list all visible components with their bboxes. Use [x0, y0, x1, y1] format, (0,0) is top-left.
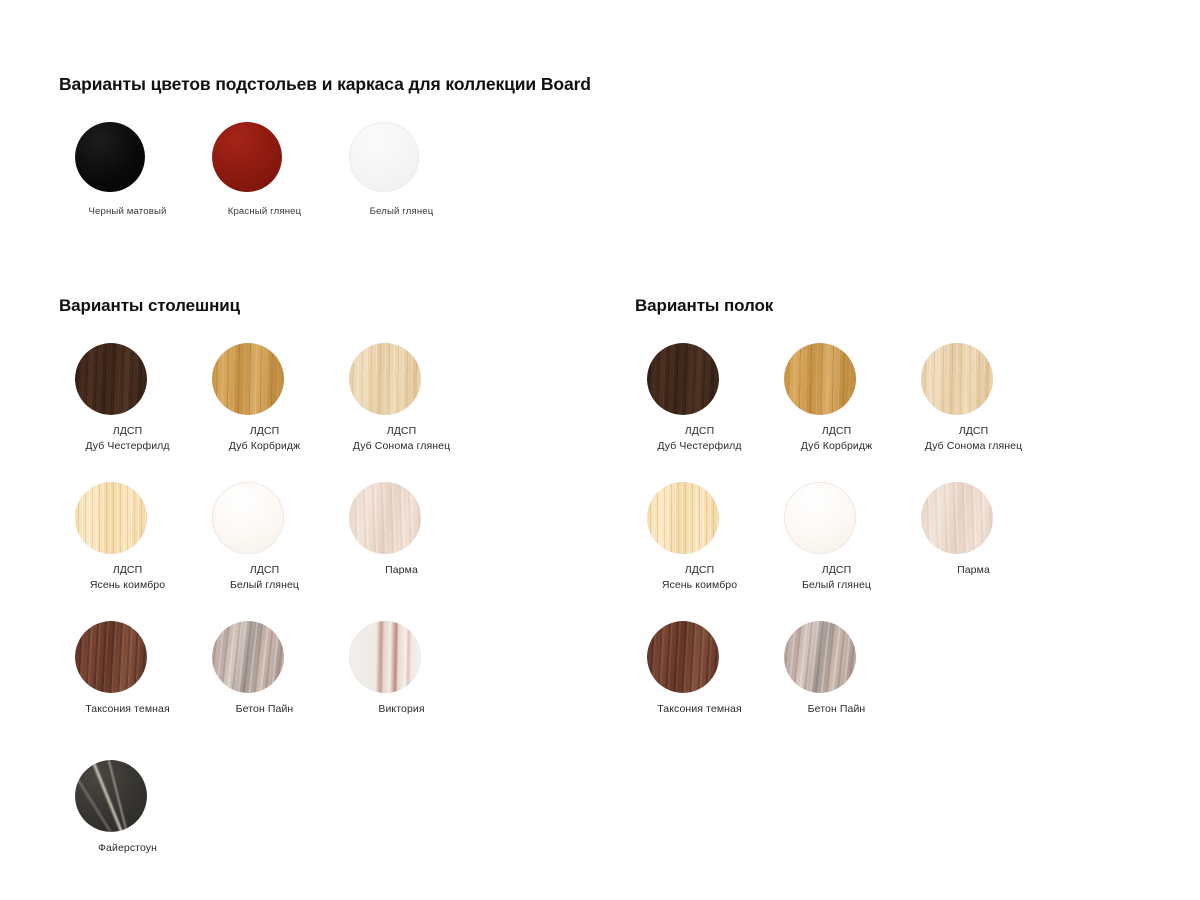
- color-swatch-option[interactable]: ЛДСПЯсень коимбро: [59, 482, 196, 621]
- swatch-label: ЛДСПБелый глянец: [196, 563, 333, 593]
- swatch-label: ЛДСПДуб Корбридж: [196, 424, 333, 454]
- swatch-label-line-1: ЛДСП: [333, 424, 470, 439]
- swatch-texture: [212, 122, 282, 192]
- tabletops-section-title: Варианты столешниц: [59, 296, 240, 316]
- swatch-thumbnail[interactable]: [631, 343, 768, 415]
- swatch-circle[interactable]: [349, 122, 419, 192]
- swatch-label-line-1: ЛДСП: [59, 563, 196, 578]
- swatch-label-line-1: Парма: [905, 563, 1042, 578]
- color-swatch-option[interactable]: Таксония темная: [59, 621, 196, 760]
- color-swatch-option[interactable]: Красный глянец: [196, 122, 333, 226]
- swatch-label: ЛДСПДуб Сонома глянец: [333, 424, 470, 454]
- swatch-texture: [349, 343, 421, 415]
- swatch-thumbnail[interactable]: [905, 343, 1042, 415]
- swatch-thumbnail[interactable]: [196, 343, 333, 415]
- color-swatch-option[interactable]: ЛДСПДуб Корбридж: [196, 343, 333, 482]
- swatch-texture: [784, 482, 856, 554]
- swatch-texture: [921, 343, 993, 415]
- swatch-circle[interactable]: [75, 760, 147, 832]
- swatch-circle[interactable]: [212, 343, 284, 415]
- swatch-circle[interactable]: [75, 482, 147, 554]
- swatch-label: Парма: [333, 563, 470, 578]
- color-swatch-option[interactable]: Виктория: [333, 621, 470, 760]
- swatch-circle[interactable]: [921, 482, 993, 554]
- tabletop-color-grid: ЛДСПДуб ЧестерфилдЛДСПДуб КорбриджЛДСПДу…: [59, 343, 470, 899]
- swatch-circle[interactable]: [647, 343, 719, 415]
- swatch-label: ЛДСПЯсень коимбро: [59, 563, 196, 593]
- swatch-texture: [75, 760, 147, 832]
- swatch-label: Бетон Пайн: [196, 702, 333, 717]
- shelves-section-title: Варианты полок: [635, 296, 773, 316]
- swatch-thumbnail[interactable]: [631, 482, 768, 554]
- swatch-label-line-2: Дуб Честерфилд: [631, 439, 768, 454]
- swatch-label-line-1: ЛДСП: [631, 563, 768, 578]
- swatch-thumbnail[interactable]: [333, 343, 470, 415]
- swatch-circle[interactable]: [212, 621, 284, 693]
- swatch-texture: [784, 621, 856, 693]
- swatch-label: Таксония темная: [59, 702, 196, 717]
- swatch-circle[interactable]: [784, 343, 856, 415]
- color-swatch-option[interactable]: Бетон Пайн: [768, 621, 905, 760]
- swatch-label-line-1: Бетон Пайн: [196, 702, 333, 717]
- swatch-label: ЛДСПДуб Честерфилд: [631, 424, 768, 454]
- color-swatch-option[interactable]: ЛДСПДуб Сонома глянец: [333, 343, 470, 482]
- color-swatch-option[interactable]: Парма: [905, 482, 1042, 621]
- swatch-label: Красный глянец: [196, 205, 333, 219]
- swatch-thumbnail[interactable]: [59, 760, 196, 832]
- color-swatch-option[interactable]: ЛДСПЯсень коимбро: [631, 482, 768, 621]
- swatch-circle[interactable]: [349, 343, 421, 415]
- color-swatch-option[interactable]: ЛДСПБелый глянец: [768, 482, 905, 621]
- swatch-thumbnail[interactable]: [768, 621, 905, 693]
- color-swatch-option[interactable]: ЛДСПБелый глянец: [196, 482, 333, 621]
- swatch-thumbnail[interactable]: [333, 482, 470, 554]
- swatch-circle[interactable]: [75, 343, 147, 415]
- color-swatch-option[interactable]: Парма: [333, 482, 470, 621]
- swatch-texture: [647, 621, 719, 693]
- swatch-thumbnail[interactable]: [768, 343, 905, 415]
- swatch-texture: [212, 343, 284, 415]
- swatch-label-line-1: Виктория: [333, 702, 470, 717]
- color-swatch-option[interactable]: ЛДСПДуб Сонома глянец: [905, 343, 1042, 482]
- swatch-label: Виктория: [333, 702, 470, 717]
- swatch-circle[interactable]: [784, 482, 856, 554]
- swatch-label-line-1: ЛДСП: [59, 424, 196, 439]
- color-swatch-option[interactable]: Бетон Пайн: [196, 621, 333, 760]
- swatch-circle[interactable]: [647, 621, 719, 693]
- swatch-label-line-1: ЛДСП: [768, 424, 905, 439]
- swatch-thumbnail[interactable]: [59, 122, 196, 194]
- swatch-thumbnail[interactable]: [333, 621, 470, 693]
- color-swatch-option[interactable]: ЛДСПДуб Честерфилд: [631, 343, 768, 482]
- swatch-label-line-2: Белый глянец: [196, 578, 333, 593]
- swatch-label-line-2: Дуб Сонома глянец: [905, 439, 1042, 454]
- swatch-thumbnail[interactable]: [196, 482, 333, 554]
- swatch-thumbnail[interactable]: [59, 621, 196, 693]
- color-swatch-option[interactable]: Черный матовый: [59, 122, 196, 226]
- swatch-label: Таксония темная: [631, 702, 768, 717]
- swatch-thumbnail[interactable]: [333, 122, 470, 194]
- swatch-label-line-2: Дуб Честерфилд: [59, 439, 196, 454]
- swatch-thumbnail[interactable]: [768, 482, 905, 554]
- swatch-thumbnail[interactable]: [59, 482, 196, 554]
- swatch-circle[interactable]: [349, 621, 421, 693]
- swatch-label-line-2: Ясень коимбро: [631, 578, 768, 593]
- swatch-label: ЛДСПДуб Честерфилд: [59, 424, 196, 454]
- swatch-texture: [212, 621, 284, 693]
- swatch-label-line-1: ЛДСП: [196, 424, 333, 439]
- swatch-label: Файерстоун: [59, 841, 196, 856]
- color-swatch-option[interactable]: Таксония темная: [631, 621, 768, 760]
- swatch-circle[interactable]: [75, 621, 147, 693]
- swatch-circle[interactable]: [212, 482, 284, 554]
- color-swatch-option[interactable]: Белый глянец: [333, 122, 470, 226]
- swatch-circle[interactable]: [212, 122, 282, 192]
- swatch-texture: [212, 482, 284, 554]
- swatch-label-line-1: Парма: [333, 563, 470, 578]
- swatch-label: ЛДСПДуб Корбридж: [768, 424, 905, 454]
- swatch-label-line-1: ЛДСП: [196, 563, 333, 578]
- swatch-label: ЛДСПЯсень коимбро: [631, 563, 768, 593]
- color-swatch-option[interactable]: ЛДСПДуб Корбридж: [768, 343, 905, 482]
- swatch-texture: [921, 482, 993, 554]
- swatch-label-line-2: Дуб Сонома глянец: [333, 439, 470, 454]
- swatch-texture: [349, 482, 421, 554]
- swatch-label: Парма: [905, 563, 1042, 578]
- swatch-label: ЛДСПДуб Сонома глянец: [905, 424, 1042, 454]
- swatch-label-line-1: Бетон Пайн: [768, 702, 905, 717]
- shelf-color-grid: ЛДСПДуб ЧестерфилдЛДСПДуб КорбриджЛДСПДу…: [631, 343, 1042, 760]
- swatch-texture: [349, 621, 421, 693]
- swatch-label: Белый глянец: [333, 205, 470, 219]
- swatch-circle[interactable]: [921, 343, 993, 415]
- swatch-label: Бетон Пайн: [768, 702, 905, 717]
- swatch-thumbnail[interactable]: [59, 343, 196, 415]
- swatch-label-line-1: Таксония темная: [631, 702, 768, 717]
- swatch-texture: [75, 482, 147, 554]
- swatch-label-line-1: ЛДСП: [768, 563, 905, 578]
- swatch-label-line-2: Дуб Корбридж: [768, 439, 905, 454]
- swatch-label-line-1: Файерстоун: [59, 841, 196, 856]
- swatch-label: ЛДСПБелый глянец: [768, 563, 905, 593]
- swatch-label-line-2: Белый глянец: [768, 578, 905, 593]
- swatch-label-line-2: Дуб Корбридж: [196, 439, 333, 454]
- swatch-circle[interactable]: [75, 122, 145, 192]
- color-swatch-option[interactable]: Файерстоун: [59, 760, 196, 899]
- swatch-texture: [784, 343, 856, 415]
- swatch-texture: [349, 122, 419, 192]
- swatch-texture: [75, 621, 147, 693]
- swatch-texture: [75, 343, 147, 415]
- swatch-texture: [75, 122, 145, 192]
- swatch-label-line-1: Таксония темная: [59, 702, 196, 717]
- swatch-texture: [647, 343, 719, 415]
- swatch-thumbnail[interactable]: [196, 621, 333, 693]
- swatch-label-line-1: ЛДСП: [631, 424, 768, 439]
- swatch-thumbnail[interactable]: [196, 122, 333, 194]
- swatch-label-line-1: ЛДСП: [905, 424, 1042, 439]
- swatch-label-line-2: Ясень коимбро: [59, 578, 196, 593]
- swatch-label: Черный матовый: [59, 205, 196, 219]
- swatch-texture: [647, 482, 719, 554]
- swatch-circle[interactable]: [784, 621, 856, 693]
- color-options-page: Варианты цветов подстольев и каркаса для…: [0, 0, 1200, 900]
- page-title: Варианты цветов подстольев и каркаса для…: [59, 74, 591, 95]
- swatch-circle[interactable]: [349, 482, 421, 554]
- swatch-thumbnail[interactable]: [905, 482, 1042, 554]
- swatch-circle[interactable]: [647, 482, 719, 554]
- color-swatch-option[interactable]: ЛДСПДуб Честерфилд: [59, 343, 196, 482]
- frame-color-grid: Черный матовыйКрасный глянецБелый глянец: [59, 122, 470, 226]
- swatch-thumbnail[interactable]: [631, 621, 768, 693]
